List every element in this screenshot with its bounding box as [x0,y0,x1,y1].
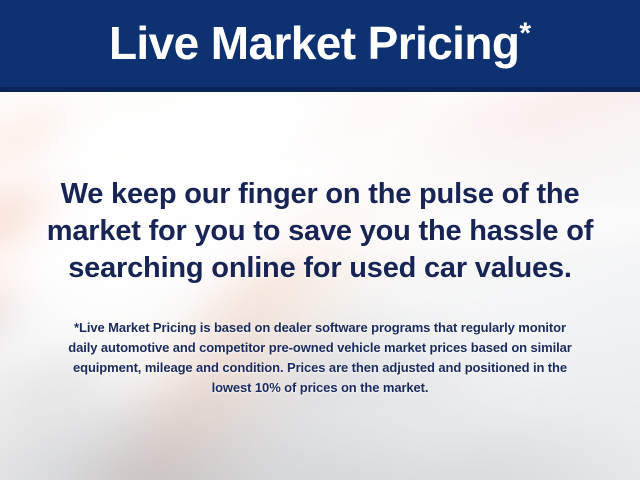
headline-line-2: market for you to save you the hassle of [22,213,618,250]
footnote-line-2: daily automotive and competitor pre-owne… [26,338,614,358]
footnote-disclaimer: *Live Market Pricing is based on dealer … [26,318,614,398]
header-banner: Live Market Pricing* [0,0,640,92]
content-area: We keep our finger on the pulse of the m… [0,92,640,480]
headline-line-3: searching online for used car values. [22,250,618,287]
live-market-pricing-promo-card: Live Market Pricing* We keep our finger … [0,0,640,480]
headline-line-1: We keep our finger on the pulse of the [22,176,618,213]
banner-title-text: Live Market Pricing [109,17,519,69]
footnote-line-4: lowest 10% of prices on the market. [26,378,614,398]
banner-title-asterisk: * [519,17,531,50]
banner-title: Live Market Pricing* [109,19,531,68]
headline-text: We keep our finger on the pulse of the m… [22,176,618,287]
footnote-line-1: *Live Market Pricing is based on dealer … [26,318,614,338]
footnote-line-3: equipment, mileage and condition. Prices… [26,358,614,378]
